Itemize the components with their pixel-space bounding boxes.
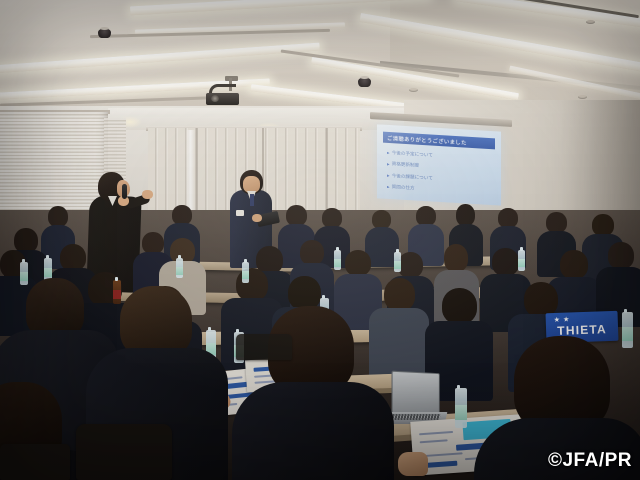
- laptop-screen: [392, 371, 440, 418]
- slide-bullet-text: 今後の課題について: [392, 173, 433, 181]
- name-badge: [236, 210, 244, 216]
- sprinkler-head: [578, 95, 587, 99]
- slide-bullet: 資格更新制度: [387, 161, 491, 173]
- staff-face: [243, 176, 260, 193]
- staff-hand: [252, 214, 262, 222]
- projector-lens-icon: [211, 95, 219, 102]
- sprinkler-head: [586, 20, 595, 24]
- water-bottle: [518, 250, 525, 271]
- dome-camera-icon: [358, 78, 371, 87]
- slide-bullet-text: 資格更新制度: [392, 162, 420, 170]
- attendee-suit: [232, 382, 394, 480]
- chair-back: [0, 444, 70, 480]
- bullet-arrow-icon: [387, 163, 390, 166]
- chair-back: [236, 334, 292, 360]
- slide-bullet-text: 今後の予定について: [392, 150, 433, 158]
- photograph: ご清聴ありがとうございました 今後の予定について 資格更新制度 今後の課題につい…: [0, 0, 640, 480]
- slide-bullet-text: 質問の仕方: [392, 184, 415, 191]
- water-bottle: [622, 312, 633, 348]
- water-bottle: [334, 250, 341, 270]
- bullet-arrow-icon: [387, 152, 390, 155]
- chair-back: [76, 424, 172, 480]
- laptop-keyboard: [391, 414, 440, 420]
- bullet-arrow-icon: [387, 174, 390, 177]
- slide-bullet: 今後の課題について: [387, 173, 491, 185]
- water-bottle: [242, 262, 249, 283]
- slide-title: ご清聴ありがとうございました: [383, 133, 467, 146]
- attendee-head: [26, 278, 84, 338]
- slide-bullet: 質問の仕方: [387, 184, 491, 196]
- staff-necktie: [250, 194, 254, 206]
- water-bottle: [176, 258, 183, 278]
- water-bottle: [20, 262, 28, 285]
- slide-bullet-list: 今後の予定について 資格更新制度 今後の課題について 質問の仕方: [387, 150, 491, 202]
- bullet-arrow-icon: [387, 186, 390, 189]
- slide-bullet: 今後の予定について: [387, 150, 491, 162]
- water-bottle: [455, 388, 467, 428]
- slide-title-bar: ご清聴ありがとうございました: [383, 132, 495, 150]
- projection-screen: ご清聴ありがとうございました 今後の予定について 資格更新制度 今後の課題につい…: [377, 124, 501, 205]
- microphone-icon: [122, 184, 127, 199]
- dome-camera-icon: [98, 29, 111, 38]
- cola-bottle: [113, 280, 121, 304]
- sprinkler-head: [409, 88, 418, 92]
- watermark: ©JFA/PR: [548, 450, 632, 472]
- reaching-hand: [398, 452, 428, 476]
- speaker-hand: [142, 190, 153, 199]
- water-bottle: [394, 252, 401, 272]
